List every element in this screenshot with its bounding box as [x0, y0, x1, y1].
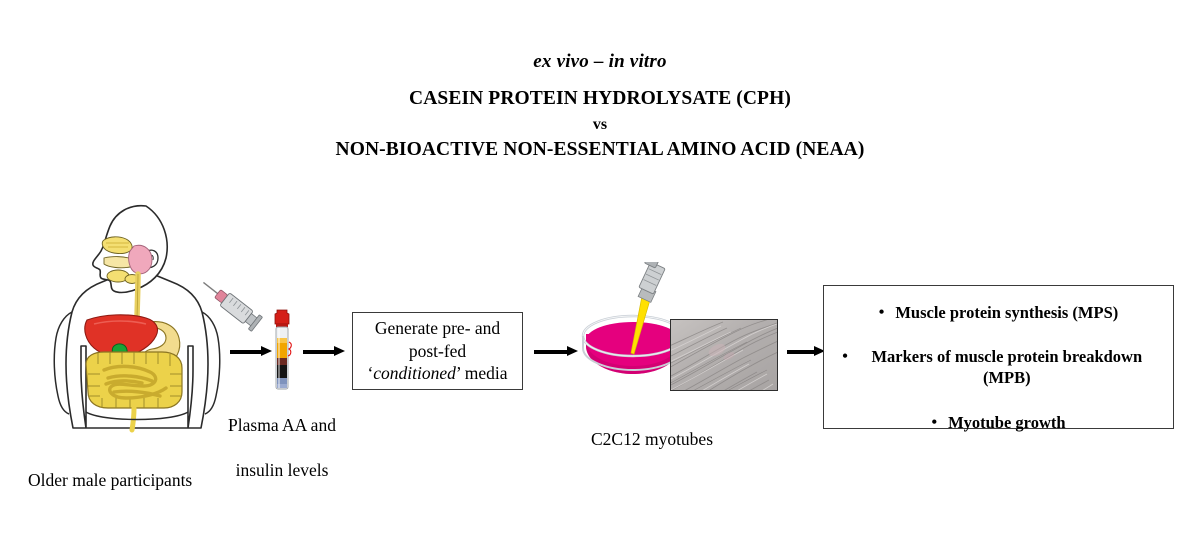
bullet-icon: •	[931, 412, 937, 434]
plasma-label-line1: Plasma AA and	[212, 414, 352, 436]
result-item-mpb: • Markers of muscle protein breakdown (M…	[838, 346, 1159, 389]
culture-label: C2C12 myotubes	[562, 406, 742, 451]
media-box-line3: ‘conditioned’ media	[367, 362, 507, 385]
result-item-mps: • Muscle protein synthesis (MPS)	[838, 302, 1159, 324]
myotube-micrograph-texture	[671, 320, 777, 390]
plasma-label-line2: insulin levels	[212, 459, 352, 481]
result-item-growth: • Myotube growth	[838, 412, 1159, 434]
bullet-icon: •	[842, 346, 848, 368]
title-cph: CASEIN PROTEIN HYDROLYSATE (CPH)	[0, 85, 1200, 113]
conditioned-media-box: Generate pre- and post-fed ‘conditioned’…	[352, 312, 523, 390]
arrow-body-to-tube	[230, 346, 272, 357]
result-item-growth-label: Myotube growth	[948, 412, 1065, 433]
syringe-icon	[198, 268, 264, 340]
media-box-line1: Generate pre- and	[367, 317, 507, 340]
myotube-micrograph	[670, 319, 778, 391]
arrow-dish-to-results	[787, 346, 825, 357]
media-word: media	[460, 363, 507, 383]
result-item-mpb-label: Markers of muscle protein breakdown (MPB…	[859, 346, 1155, 389]
media-box-line2: post-fed	[367, 340, 507, 363]
title-ex-vivo-in-vitro: ex vivo – in vitro	[0, 50, 1200, 74]
figure-canvas: ex vivo – in vitro CASEIN PROTEIN HYDROL…	[0, 0, 1200, 556]
results-box: • Muscle protein synthesis (MPS) • Marke…	[823, 285, 1174, 429]
title-vs: vs	[0, 113, 1200, 136]
plasma-label: Plasma AA and insulin levels	[212, 392, 352, 504]
title-neaa: NON-BIOACTIVE NON-ESSENTIAL AMINO ACID (…	[0, 136, 1200, 164]
conditioned-word: conditioned	[373, 363, 456, 383]
figure-title-block: ex vivo – in vitro CASEIN PROTEIN HYDROL…	[0, 50, 1200, 164]
arrow-tube-to-media	[303, 346, 345, 357]
bullet-icon: •	[879, 302, 885, 324]
arrow-media-to-dish	[534, 346, 578, 357]
result-item-mps-label: Muscle protein synthesis (MPS)	[895, 302, 1118, 323]
blood-collection-tube	[269, 308, 295, 392]
